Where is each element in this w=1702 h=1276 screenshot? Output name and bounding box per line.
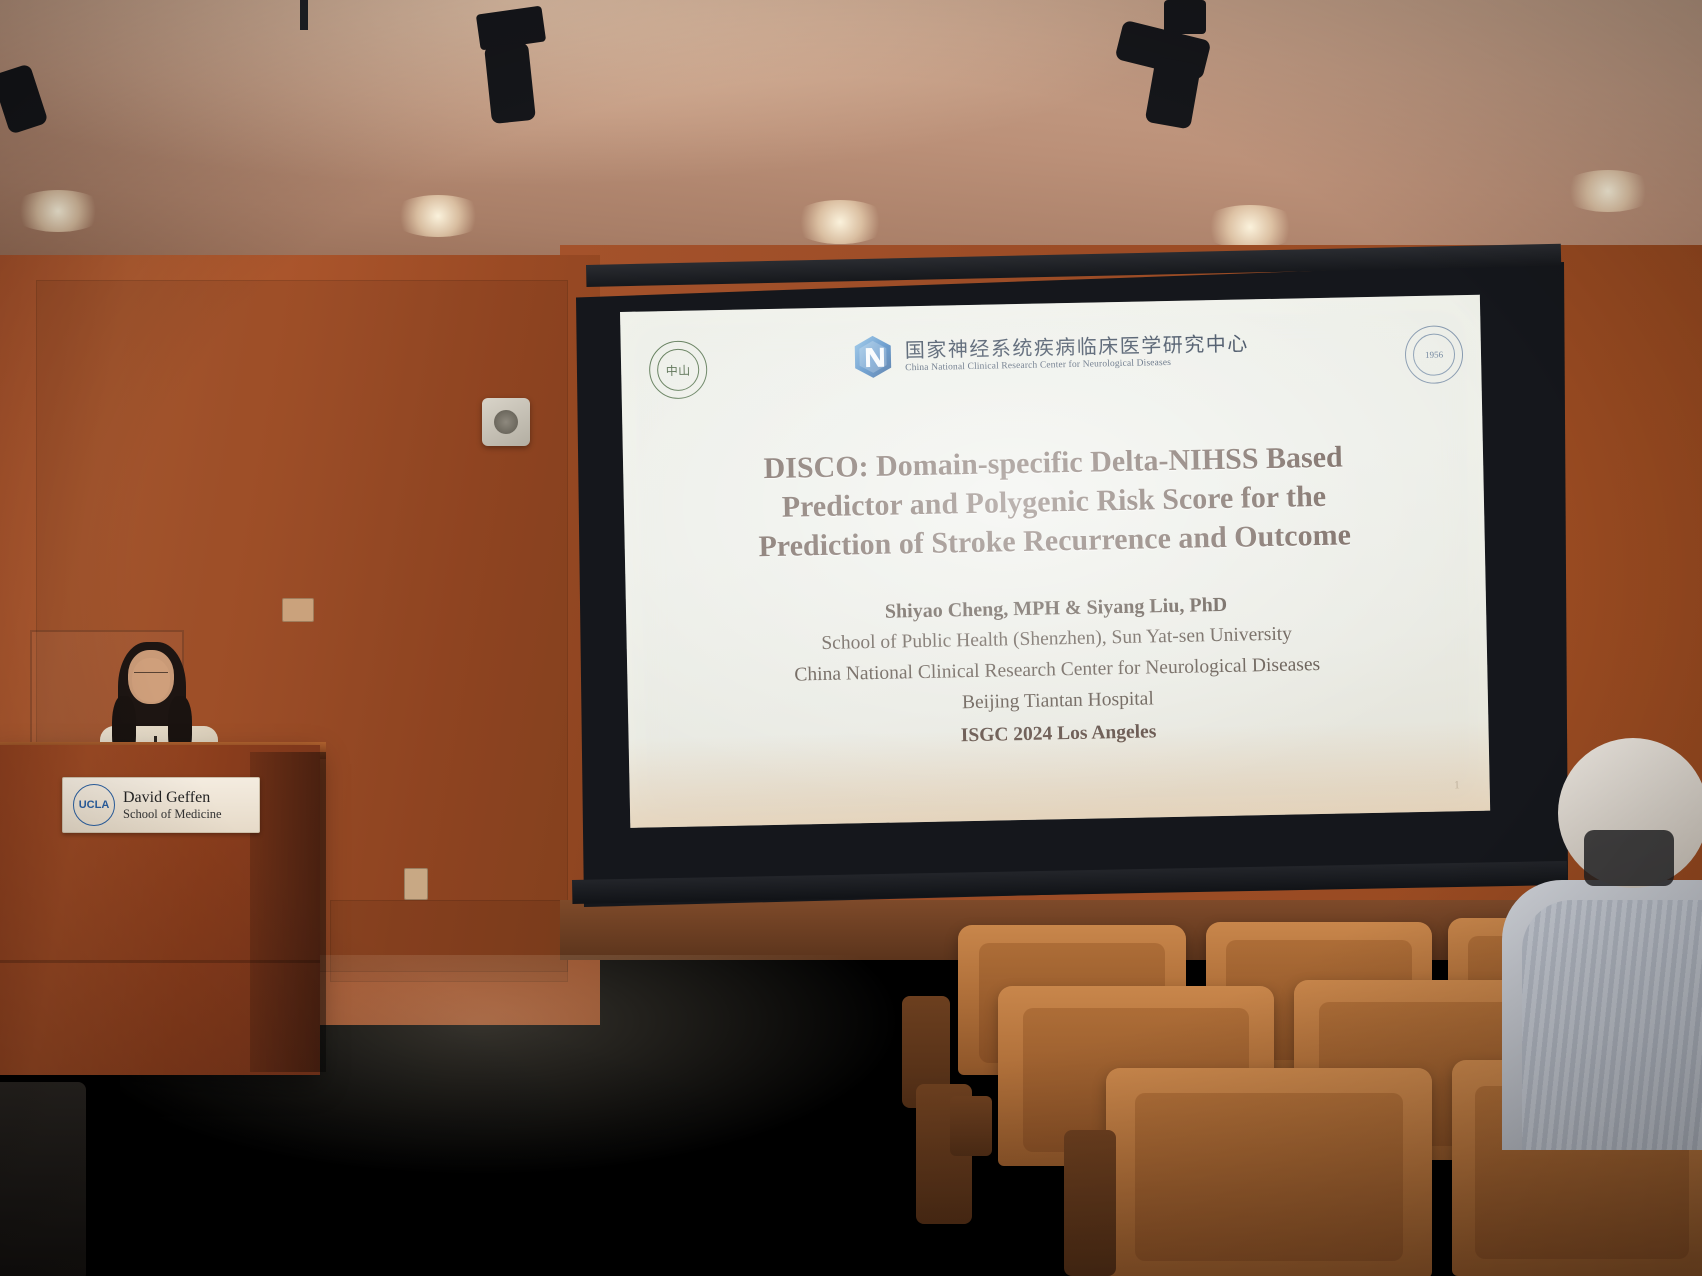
- audience-member-glasses: [1584, 830, 1674, 886]
- auditorium-photo: 中山 国家神经系统疾病临床医学研究中心: [0, 0, 1702, 1276]
- ucla-seal-icon: UCLA: [73, 784, 115, 826]
- slide-header: 中山 国家神经系统疾病临床医学研究中心: [620, 311, 1481, 400]
- theater-seat: [1106, 1068, 1432, 1276]
- wall-plate: [282, 598, 314, 622]
- plaque-line-1: David Geffen: [123, 788, 222, 808]
- slide-authors-block: Shiyao Cheng, MPH & Siyang Liu, PhD Scho…: [626, 585, 1489, 761]
- ceiling-downlight: [1200, 205, 1300, 249]
- lectern-side-shadow: [250, 752, 326, 1072]
- center-logo-group: 国家神经系统疾病临床医学研究中心 China National Clinical…: [853, 327, 1250, 379]
- wall-speaker-icon: [482, 398, 530, 446]
- plaque-text: David Geffen School of Medicine: [123, 788, 222, 823]
- ceiling-downlight: [790, 200, 890, 244]
- beijing-tiantan-hospital-seal-icon: 1956: [1404, 325, 1463, 384]
- ceiling-downlight: [1560, 170, 1656, 212]
- ceiling-downlight: [10, 190, 106, 232]
- seat-armrest: [1064, 1130, 1116, 1276]
- seal-inner-year: 1956: [1413, 333, 1456, 376]
- sun-yat-sen-university-seal-icon: 中山: [649, 340, 708, 399]
- track-light-fixture: [484, 42, 536, 124]
- lectern-seam: [0, 960, 320, 963]
- light-fixture-arm: [300, 0, 308, 30]
- cnccrnd-hexagon-logo-icon: [853, 335, 894, 380]
- seat-cushion: [1135, 1093, 1402, 1261]
- lectern-plaque: UCLA David Geffen School of Medicine: [62, 777, 260, 833]
- track-light-fixture: [1164, 0, 1206, 34]
- audience-member-shirt: [1522, 900, 1702, 1150]
- foreground-seat: [0, 1082, 86, 1276]
- slide-number: 1: [1454, 779, 1460, 791]
- seat-armrest: [950, 1096, 992, 1156]
- slide-title: DISCO: Domain-specific Delta-NIHSS Based…: [623, 435, 1485, 569]
- presentation-slide: 中山 国家神经系统疾病临床医学研究中心: [620, 295, 1490, 828]
- seal-inner-mark: 中山: [657, 348, 700, 391]
- center-logo-text: 国家神经系统疾病临床医学研究中心 China National Clinical…: [905, 333, 1250, 373]
- ceiling-downlight: [390, 195, 486, 237]
- wall-outlet: [404, 868, 428, 900]
- plaque-line-2: School of Medicine: [123, 807, 222, 822]
- glasses-icon: [134, 672, 168, 681]
